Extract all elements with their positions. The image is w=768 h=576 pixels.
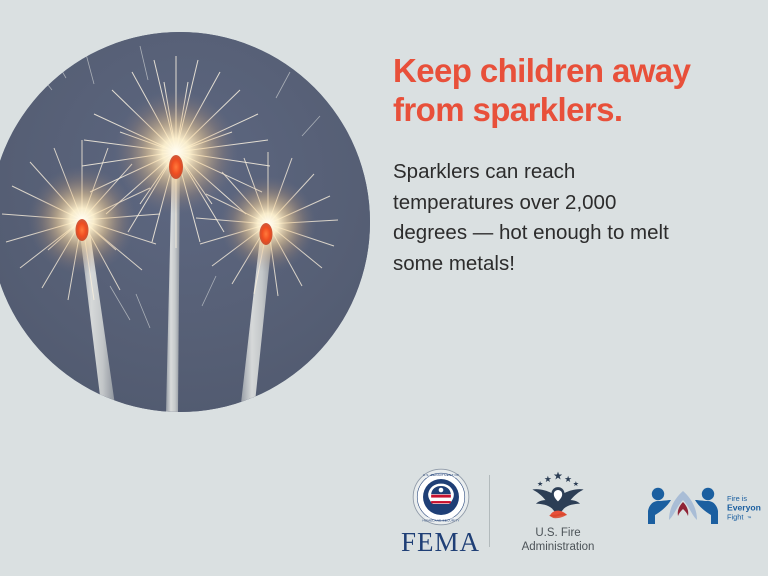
poster-canvas: Keep children away from sparklers. Spark… xyxy=(0,0,768,576)
usfa-eagle-icon xyxy=(525,468,591,524)
fema-logo: U.S. DEPARTMENT OF HOMELAND SECURITY U.S… xyxy=(393,468,488,558)
svg-text:HOMELAND SECURITY: HOMELAND SECURITY xyxy=(422,518,460,522)
fire-is-everyones-fight-logo: Fire is Everyone's Fight ™ xyxy=(643,480,761,532)
feff-figure-right-head xyxy=(702,488,714,500)
logo-strip: U.S. DEPARTMENT OF HOMELAND SECURITY U.S… xyxy=(385,468,755,558)
feff-tagline-line-3: Fight xyxy=(727,513,743,522)
feff-tagline-line-2: Everyone's xyxy=(727,503,761,513)
feff-trademark: ™ xyxy=(747,516,752,521)
feff-figure-left-head xyxy=(652,488,664,500)
usfa-label: U.S. Fire Administration xyxy=(503,526,613,554)
dhs-seal-icon: U.S. DEPARTMENT OF HOMELAND SECURITY U.S… xyxy=(412,468,470,526)
glow-center xyxy=(114,90,238,214)
svg-text:U.S. DEPARTMENT OF: U.S. DEPARTMENT OF xyxy=(422,473,458,477)
headline: Keep children away from sparklers. xyxy=(393,52,743,130)
logo-divider xyxy=(489,475,490,547)
feff-figure-right-body xyxy=(695,500,718,524)
feff-emblem-icon: Fire is Everyone's Fight ™ xyxy=(643,480,761,532)
body-copy: Sparklers can reach temperatures over 2,… xyxy=(393,157,683,279)
usfa-label-line-1: U.S. Fire xyxy=(503,526,613,540)
sparkler-photo-circle xyxy=(0,32,370,412)
usfa-logo: U.S. Fire Administration xyxy=(503,468,613,554)
tip-right xyxy=(260,223,273,245)
fema-wordmark: FEMA xyxy=(393,527,488,558)
tip-left xyxy=(76,219,89,241)
feff-figure-left-body xyxy=(648,500,671,524)
headline-line-2: from sparklers. xyxy=(393,91,743,130)
sparklers-illustration xyxy=(0,32,370,412)
headline-line-1: Keep children away xyxy=(393,52,743,91)
usfa-label-line-2: Administration xyxy=(503,540,613,554)
tip-center xyxy=(169,155,183,179)
